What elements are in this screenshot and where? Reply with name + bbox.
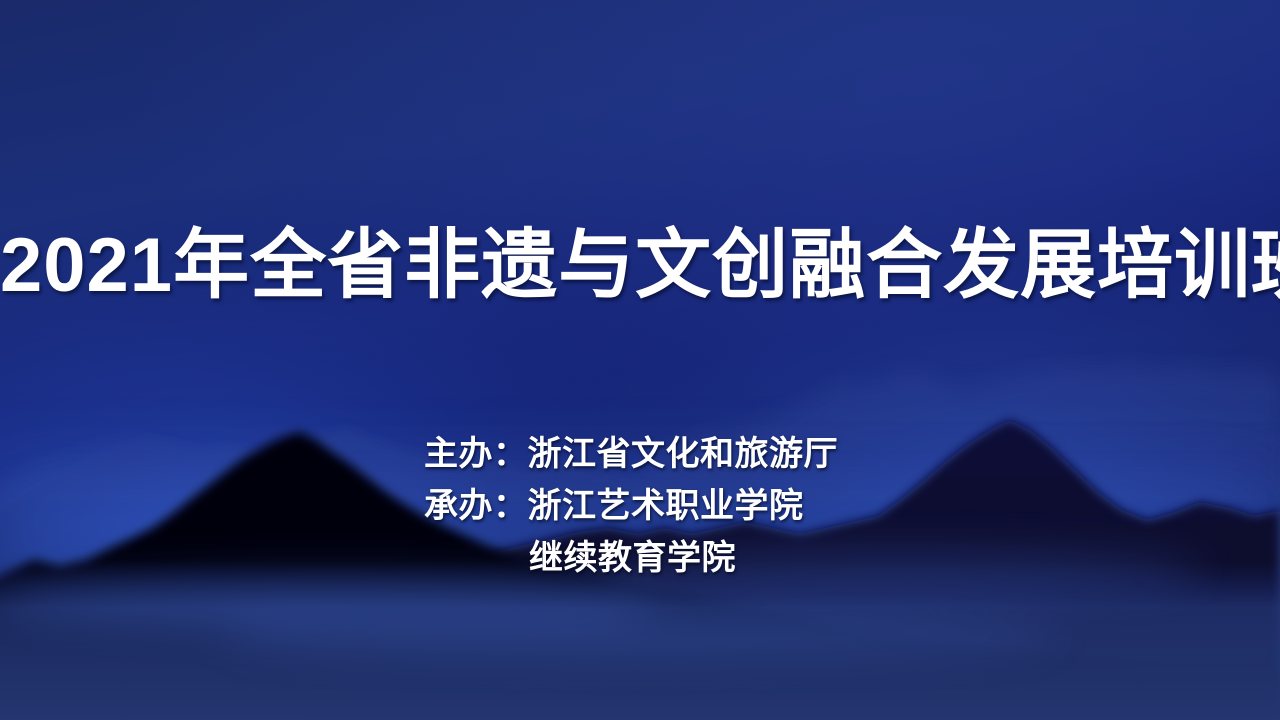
credit-line-host: 承办：浙江艺术职业学院 (424, 480, 1064, 532)
page-title: 2021年全省非遗与文创融合发展培训班 (0, 228, 1280, 304)
slide-text-layer: 2021年全省非遗与文创融合发展培训班 主办：浙江省文化和旅游厅 承办：浙江艺术… (0, 0, 1280, 720)
credit-line-organizer: 主办：浙江省文化和旅游厅 (424, 428, 1064, 480)
credit-line-department: 继续教育学院 (424, 532, 1064, 584)
credits-block: 主办：浙江省文化和旅游厅 承办：浙江艺术职业学院 继续教育学院 (424, 428, 1064, 584)
title-slide: 2021年全省非遗与文创融合发展培训班 主办：浙江省文化和旅游厅 承办：浙江艺术… (0, 0, 1280, 720)
